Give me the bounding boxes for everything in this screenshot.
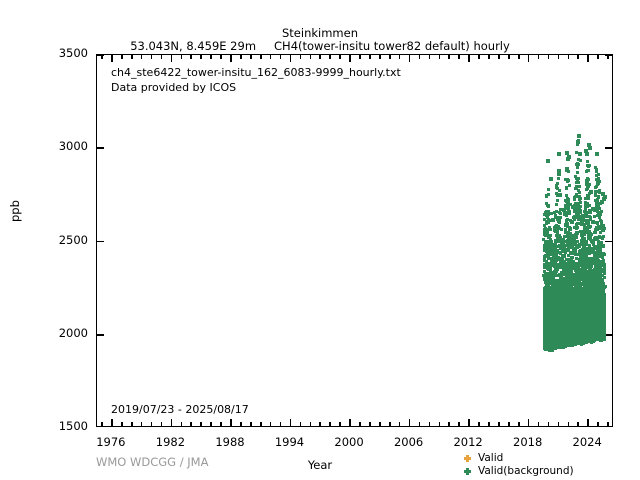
data-point (579, 277, 582, 280)
x-axis-tick-minor (240, 55, 242, 59)
data-point (567, 231, 570, 234)
data-point (548, 295, 551, 347)
data-point (603, 293, 606, 337)
data-point (559, 247, 562, 250)
data-point (597, 225, 600, 228)
data-point (585, 279, 588, 341)
data-point (572, 266, 575, 269)
data-point (556, 287, 559, 343)
data-point (580, 305, 583, 344)
data-point (572, 248, 575, 251)
data-point (587, 278, 590, 339)
data-point (594, 282, 597, 337)
data-point (574, 289, 577, 346)
data-point (549, 304, 552, 346)
data-point (548, 282, 551, 285)
data-point (549, 291, 552, 351)
data-point (553, 296, 556, 345)
data-point (568, 242, 571, 245)
data-point (581, 248, 584, 251)
data-point (554, 270, 557, 273)
data-point (571, 295, 574, 298)
data-point (599, 248, 602, 251)
data-point (545, 250, 548, 253)
data-point (589, 276, 592, 279)
x-axis-tick-major (111, 55, 113, 62)
data-point (564, 223, 567, 226)
data-point (549, 268, 552, 271)
data-point (577, 202, 580, 205)
data-point (581, 253, 584, 256)
data-point (570, 298, 573, 342)
data-point (558, 189, 561, 192)
data-point (587, 195, 590, 198)
data-point (577, 214, 580, 217)
data-point (591, 280, 594, 283)
data-point (589, 257, 592, 260)
data-point (546, 280, 549, 283)
data-point (546, 204, 549, 207)
data-point (583, 254, 586, 257)
data-point (544, 227, 547, 230)
data-point (588, 275, 591, 278)
data-point (568, 258, 571, 261)
data-point (600, 301, 603, 341)
data-point (566, 278, 569, 281)
data-point (584, 226, 587, 229)
data-point (578, 280, 581, 344)
data-point (594, 271, 597, 274)
data-point (564, 286, 567, 348)
data-point (561, 255, 564, 258)
data-point (552, 303, 555, 306)
data-point (586, 194, 589, 197)
data-point (574, 269, 577, 272)
data-point (582, 287, 585, 290)
data-point (590, 292, 593, 295)
data-point (560, 295, 563, 344)
data-point (554, 225, 557, 228)
data-point (583, 282, 586, 285)
data-point (592, 239, 595, 242)
data-point-outlier (551, 218, 555, 222)
data-point (592, 303, 595, 339)
data-point (588, 269, 591, 272)
data-point (598, 284, 601, 287)
data-point (595, 259, 598, 262)
x-axis-tick-minor (607, 422, 609, 426)
data-point (546, 247, 549, 250)
data-point (586, 262, 589, 265)
data-point (562, 300, 565, 344)
data-point (557, 283, 560, 286)
data-point (600, 284, 603, 287)
data-point (595, 278, 598, 281)
data-point (566, 232, 569, 235)
data-point (597, 249, 600, 252)
data-point (596, 182, 599, 185)
x-axis-tick-minor (141, 55, 143, 59)
x-axis-tick-minor (448, 55, 450, 59)
data-point (568, 288, 571, 343)
data-point (578, 282, 581, 342)
data-point (567, 247, 570, 250)
data-point (554, 230, 557, 233)
data-point (565, 278, 568, 281)
data-point (586, 183, 589, 186)
data-point (554, 261, 557, 264)
data-point (586, 274, 589, 341)
data-point (551, 307, 554, 348)
data-point (586, 282, 589, 341)
x-axis-tick-label: 1976 (81, 435, 141, 449)
data-point (601, 295, 604, 339)
data-point (548, 294, 551, 297)
data-point (599, 292, 602, 341)
data-point (550, 293, 553, 296)
data-point (560, 290, 563, 293)
data-point (581, 294, 584, 297)
data-point (543, 263, 546, 266)
data-point (564, 285, 567, 346)
data-point (550, 300, 553, 303)
data-point (596, 183, 599, 186)
data-point (572, 252, 575, 255)
data-point (584, 211, 587, 214)
data-point (550, 308, 553, 311)
x-axis-tick-minor (597, 55, 599, 59)
data-point (580, 277, 583, 280)
data-point (543, 233, 546, 236)
data-point (545, 265, 548, 268)
data-point (591, 262, 594, 265)
data-point (585, 203, 588, 206)
data-point (586, 270, 589, 273)
data-point (550, 264, 553, 267)
data-point (601, 298, 604, 301)
data-point (543, 233, 546, 236)
data-point (564, 292, 567, 342)
data-point (597, 196, 600, 199)
data-point (571, 298, 574, 342)
data-point (593, 279, 596, 282)
data-point (574, 250, 577, 253)
data-point (575, 234, 578, 237)
data-point (549, 295, 552, 298)
data-point (596, 272, 599, 338)
data-point (586, 279, 589, 282)
data-point (570, 259, 573, 262)
data-point (564, 248, 567, 251)
data-point (564, 251, 567, 254)
data-point (576, 222, 579, 225)
data-point (550, 261, 553, 264)
data-point (584, 285, 587, 339)
data-point (602, 224, 605, 227)
data-point (574, 242, 577, 245)
data-point (551, 294, 554, 297)
data-point (553, 304, 556, 344)
data-point (563, 235, 566, 238)
data-point (580, 223, 583, 226)
data-point (580, 253, 583, 256)
data-point (547, 275, 550, 278)
data-point (568, 289, 571, 292)
y-axis-tick (605, 241, 612, 243)
data-point (565, 262, 568, 265)
data-point (558, 296, 561, 299)
x-axis-tick-minor (399, 55, 401, 59)
data-point (567, 242, 570, 245)
data-point (560, 308, 563, 342)
data-point (595, 269, 598, 272)
data-point (603, 253, 606, 256)
data-point (563, 305, 566, 344)
data-point (591, 296, 594, 299)
data-point (565, 269, 568, 272)
data-point (584, 268, 587, 271)
data-point (593, 295, 596, 342)
data-point (586, 205, 589, 208)
data-point (554, 239, 557, 242)
data-point (550, 262, 553, 265)
data-point (553, 290, 556, 293)
data-point (567, 243, 570, 246)
data-point (577, 270, 580, 273)
data-point (600, 293, 603, 296)
data-point (571, 297, 574, 341)
data-point (595, 253, 598, 256)
data-point (593, 278, 596, 281)
data-point (597, 236, 600, 239)
data-point (559, 216, 562, 219)
data-point (563, 281, 566, 284)
data-point (567, 179, 570, 182)
data-point-outlier (549, 177, 553, 181)
data-point (581, 298, 584, 301)
x-axis-tick-major (349, 55, 351, 62)
data-point (557, 256, 560, 259)
data-point (580, 259, 583, 262)
data-point (543, 270, 546, 273)
data-point-outlier (603, 195, 607, 199)
data-point (553, 211, 556, 214)
data-point (598, 180, 601, 183)
data-point (547, 274, 550, 277)
data-point (553, 265, 556, 268)
data-point (556, 237, 559, 240)
data-point (570, 237, 573, 240)
data-point (592, 301, 595, 339)
data-point (562, 304, 565, 307)
data-point (575, 269, 578, 272)
data-point-outlier (567, 155, 571, 159)
data-point (572, 303, 575, 346)
data-point (571, 256, 574, 259)
data-point (582, 270, 585, 273)
data-point (585, 253, 588, 256)
data-point (566, 284, 569, 348)
data-point (582, 280, 585, 283)
data-point (566, 225, 569, 228)
x-axis-tick-minor (190, 422, 192, 426)
data-point (567, 278, 570, 281)
data-point (580, 302, 583, 345)
data-point (560, 290, 563, 293)
x-axis-tick-minor (141, 422, 143, 426)
data-point (557, 287, 560, 345)
data-point (569, 292, 572, 295)
data-point (587, 169, 590, 172)
data-point (550, 244, 553, 247)
annotation-date-range: 2019/07/23 - 2025/08/17 (111, 403, 249, 416)
data-point (589, 218, 592, 221)
data-point (546, 282, 549, 285)
data-point (575, 163, 578, 166)
data-point (590, 257, 593, 260)
data-point (550, 301, 553, 304)
data-point (563, 255, 566, 258)
data-point (604, 285, 607, 288)
data-point (544, 275, 547, 278)
data-point (574, 282, 577, 285)
data-point (567, 201, 570, 204)
data-point (593, 215, 596, 218)
data-point (587, 260, 590, 263)
data-point (584, 207, 587, 210)
data-point (544, 241, 547, 244)
data-point (566, 222, 569, 225)
data-point (548, 241, 551, 244)
data-point (597, 249, 600, 252)
data-point (556, 229, 559, 232)
data-point (600, 253, 603, 256)
data-point (583, 257, 586, 260)
data-point (598, 248, 601, 251)
data-point (597, 241, 600, 244)
data-point (564, 266, 567, 269)
data-point (562, 299, 565, 302)
data-point (603, 227, 606, 230)
data-point (558, 227, 561, 230)
data-point (568, 286, 571, 289)
x-axis-tick-minor (121, 422, 123, 426)
data-point (589, 249, 592, 252)
data-point (589, 292, 592, 340)
data-point (544, 298, 547, 349)
data-point (592, 282, 595, 285)
data-point (582, 299, 585, 342)
data-point (581, 296, 584, 299)
data-point (603, 267, 606, 270)
data-point (589, 283, 592, 286)
data-point (596, 276, 599, 279)
data-point (567, 208, 570, 211)
data-point (602, 259, 605, 262)
data-point (599, 270, 602, 273)
x-axis-tick-minor (458, 55, 460, 59)
data-point (578, 282, 581, 339)
data-point (581, 251, 584, 254)
data-point (550, 289, 553, 292)
data-point (573, 267, 576, 270)
data-point (582, 291, 585, 294)
data-point (600, 264, 603, 267)
data-point (544, 288, 547, 291)
data-point (597, 177, 600, 180)
data-point (579, 292, 582, 338)
data-point (590, 233, 593, 236)
data-point (580, 240, 583, 243)
data-point (580, 268, 583, 271)
data-point (576, 231, 579, 234)
data-point (548, 288, 551, 291)
x-axis-tick-minor (339, 422, 341, 426)
data-point (565, 287, 568, 345)
data-point (577, 273, 580, 345)
data-point (555, 251, 558, 254)
data-point (566, 197, 569, 200)
x-axis-tick-minor (300, 55, 302, 59)
data-point (553, 246, 556, 249)
scatter-data-layer (97, 55, 612, 426)
data-point (586, 249, 589, 252)
data-point (565, 284, 568, 340)
data-point (578, 284, 581, 342)
data-point (600, 269, 603, 272)
data-point (585, 271, 588, 274)
data-point (573, 303, 576, 306)
data-point (557, 283, 560, 348)
data-point (569, 301, 572, 343)
data-point (570, 269, 573, 272)
data-point (589, 247, 592, 250)
data-point (560, 228, 563, 231)
data-point (592, 282, 595, 285)
data-point (580, 296, 583, 344)
data-point (560, 283, 563, 286)
data-point (602, 299, 605, 302)
data-point (550, 274, 553, 277)
data-point (544, 273, 547, 276)
data-point (597, 259, 600, 262)
data-point (547, 285, 550, 288)
data-point (590, 288, 593, 291)
chart-screenshot: Steinkimmen 53.043N, 8.459E 29mCH4(tower… (0, 0, 640, 480)
data-point (555, 282, 558, 285)
data-point (603, 299, 606, 337)
data-point (544, 290, 547, 350)
data-point (553, 229, 556, 232)
data-point (566, 202, 569, 205)
data-point (575, 193, 578, 196)
data-point (558, 284, 561, 342)
data-point (553, 298, 556, 301)
data-point (577, 283, 580, 340)
data-point (555, 287, 558, 346)
data-point (564, 228, 567, 231)
data-point (585, 228, 588, 231)
data-point (568, 285, 571, 341)
data-point (558, 251, 561, 254)
data-point (578, 285, 581, 288)
data-point (547, 265, 550, 268)
data-point (550, 290, 553, 293)
data-point (554, 288, 557, 345)
data-point (601, 301, 604, 342)
data-point (549, 273, 552, 276)
data-point (597, 190, 600, 193)
